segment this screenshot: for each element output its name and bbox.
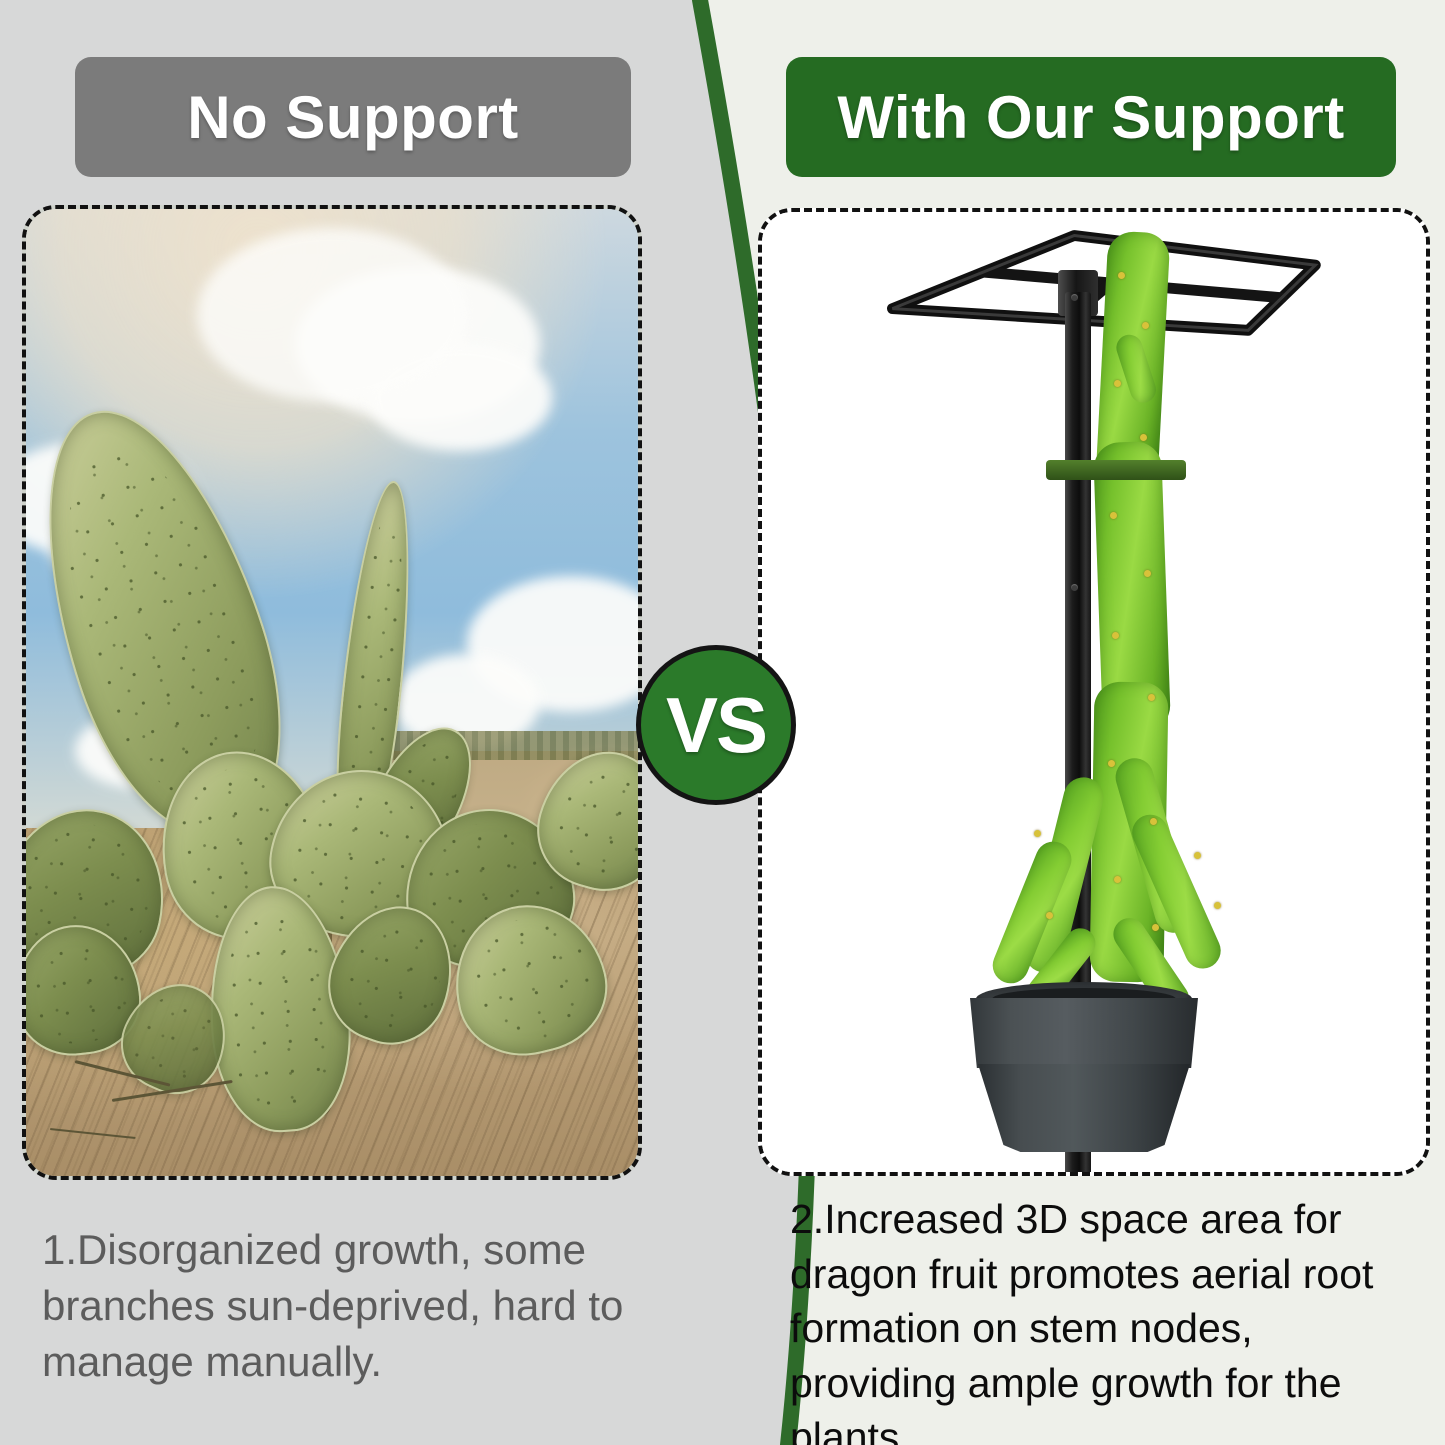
cactus-spine <box>1144 570 1151 577</box>
badge-no-support-label: No Support <box>187 83 519 152</box>
badge-with-our-support-label: With Our Support <box>837 83 1344 152</box>
cactus-spine <box>1142 322 1149 329</box>
cactus-spine <box>1214 902 1221 909</box>
cactus-spine <box>1118 272 1125 279</box>
versus-badge: VS <box>636 645 796 805</box>
comparison-infographic: No Support With Our Support <box>0 0 1445 1445</box>
post-screw <box>1071 584 1078 591</box>
cactus-spine <box>1034 830 1041 837</box>
pot-upper-body <box>970 998 1198 1068</box>
caption-no-support: 1.Disorganized growth, some branches sun… <box>42 1222 672 1390</box>
cactus-spine <box>1114 380 1121 387</box>
cloud <box>197 228 466 402</box>
cactus-spine <box>1140 434 1147 441</box>
cactus-spine <box>1152 924 1159 931</box>
plant-pot <box>970 982 1198 1160</box>
post-screw <box>1071 294 1078 301</box>
cactus-spine <box>1046 912 1053 919</box>
badge-with-our-support: With Our Support <box>786 57 1396 177</box>
pot-lower-body <box>978 1064 1190 1152</box>
cactus-spine <box>1194 852 1201 859</box>
cactus-spine <box>1108 760 1115 767</box>
cactus-spine <box>1114 876 1121 883</box>
plant-support-product-photo <box>762 212 1426 1172</box>
cactus-spine <box>1112 632 1119 639</box>
cactus-spine <box>1110 512 1117 519</box>
caption-with-support: 2.Increased 3D space area for dragon fru… <box>790 1192 1430 1445</box>
photo-panel-no-support <box>22 205 642 1180</box>
cactus-field-photo <box>26 209 638 1176</box>
photo-panel-with-support <box>758 208 1430 1176</box>
versus-label: VS <box>666 680 766 771</box>
cactus-spine <box>1148 694 1155 701</box>
badge-no-support: No Support <box>75 57 631 177</box>
plant-tie-strap <box>1046 460 1186 480</box>
cactus-spine <box>1150 818 1157 825</box>
